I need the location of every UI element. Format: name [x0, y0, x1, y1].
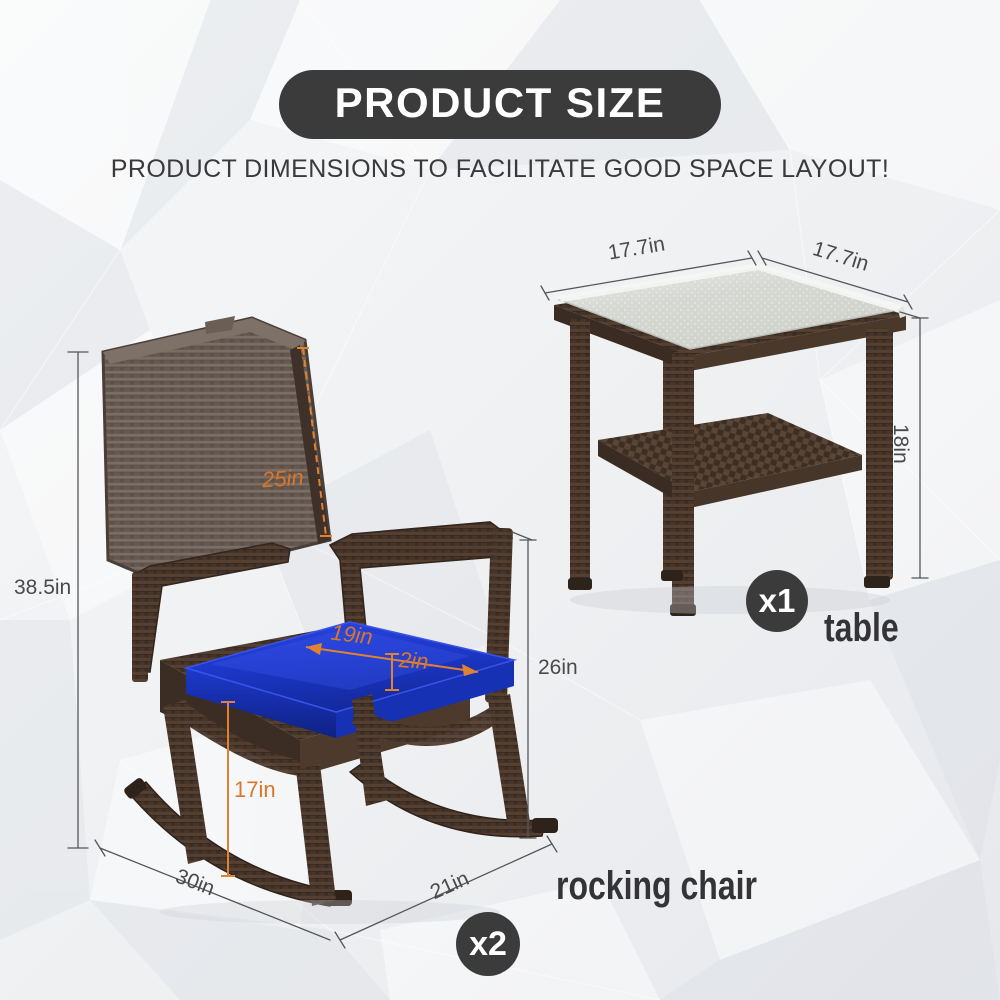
dimension-chair-side-height: 26in [538, 656, 578, 680]
table-name-label: table [824, 606, 899, 651]
rocking-chair-count-badge: x2 [456, 912, 520, 976]
table-count-badge: x1 [746, 570, 808, 632]
table-illustration [554, 263, 906, 616]
dimension-chair-cushion-thickness: 2in [398, 647, 429, 675]
dimension-chair-seat-height: 17in [234, 777, 276, 803]
rocking-chair-illustration [103, 316, 558, 924]
header: PRODUCT SIZE PRODUCT DIMENSIONS TO FACIL… [0, 0, 1000, 184]
dimension-table-height: 18in [888, 424, 912, 464]
rocking-chair-name-label: rocking chair [556, 864, 757, 909]
dimension-chair-total-height: 38.5in [14, 576, 71, 600]
dimension-chair-seat-depth: 19in [330, 620, 374, 651]
page-title: PRODUCT SIZE [279, 70, 722, 139]
dimension-chair-back-height: 25in [261, 465, 304, 494]
page-subtitle: PRODUCT DIMENSIONS TO FACILITATE GOOD SP… [0, 155, 1000, 184]
